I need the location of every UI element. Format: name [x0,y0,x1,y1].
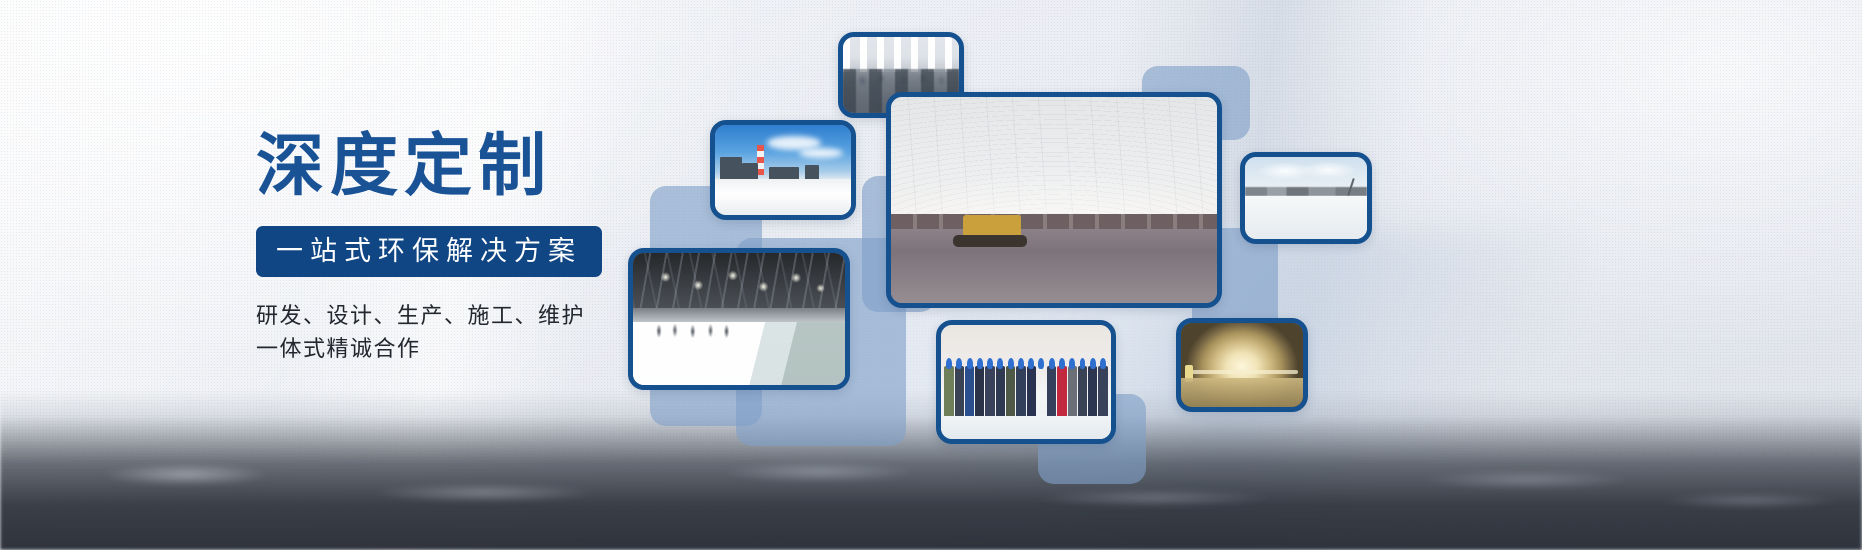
worker-figure [965,366,974,416]
workshop-photo-image [633,253,845,385]
worker-figure [1006,366,1015,416]
worker-figure [975,366,984,416]
office-desk-cluster [850,73,954,93]
tunnel-interior-photo[interactable] [1176,318,1308,412]
snow-field [1245,196,1367,239]
workshop-floor-photo[interactable] [628,248,850,390]
worker-figure [1047,366,1056,416]
sky-clouds [1255,162,1358,180]
power-plant-photo-image [715,125,851,215]
air-dome-interior-photo[interactable] [886,92,1222,308]
workshop-workers [650,322,739,340]
team-worker-row [944,366,1107,416]
air-dome-photo-image [891,97,1217,303]
team-group-photo[interactable] [936,320,1116,444]
worker-figure [1068,366,1077,416]
snow-site-photo-image [1245,157,1367,239]
wheel-loader [963,215,1021,241]
hero-description: 研发、设计、生产、施工、维护 一体式精诚合作 [256,299,676,365]
team-snow-ground [941,414,1111,439]
cloud-shape [799,148,843,158]
hero-subtitle-text: 一站式环保解决方案 [276,236,582,266]
worker-figure [944,366,953,416]
tunnel-light-band [1186,370,1298,374]
worker-figure [1088,366,1097,416]
worker-figure [996,366,1005,416]
hero-description-line-1: 研发、设计、生产、施工、维护 [256,299,676,332]
snow-ground [715,179,851,215]
worker-figure [985,366,994,416]
hero-banner: 深度定制 一站式环保解决方案 研发、设计、生产、施工、维护 一体式精诚合作 [0,0,1862,550]
power-plant-photo[interactable] [710,120,856,220]
worker-figure [1016,366,1025,416]
worker-figure [1057,366,1066,416]
worker-figure [1037,366,1046,416]
tunnel-photo-image [1181,323,1303,407]
tunnel-floor [1181,378,1303,407]
workshop-ceiling-lights [637,266,841,303]
hero-subtitle-bar: 一站式环保解决方案 [256,226,602,277]
worker-figure [1098,366,1107,416]
dome-floor [891,229,1217,303]
hero-description-line-2: 一体式精诚合作 [256,332,676,365]
hero-text-block: 深度定制 一站式环保解决方案 研发、设计、生产、施工、维护 一体式精诚合作 [256,132,676,365]
team-photo-image [941,325,1111,439]
worker-figure [1027,366,1036,416]
chimney-stack [757,145,764,176]
worker-figure [955,366,964,416]
plant-building [720,157,742,181]
dome-membrane-ribs [891,97,1217,233]
worker-figure [1078,366,1087,416]
snow-site-photo[interactable] [1240,152,1372,244]
background-ground-speckle [0,420,1862,550]
hero-title: 深度定制 [256,132,676,200]
